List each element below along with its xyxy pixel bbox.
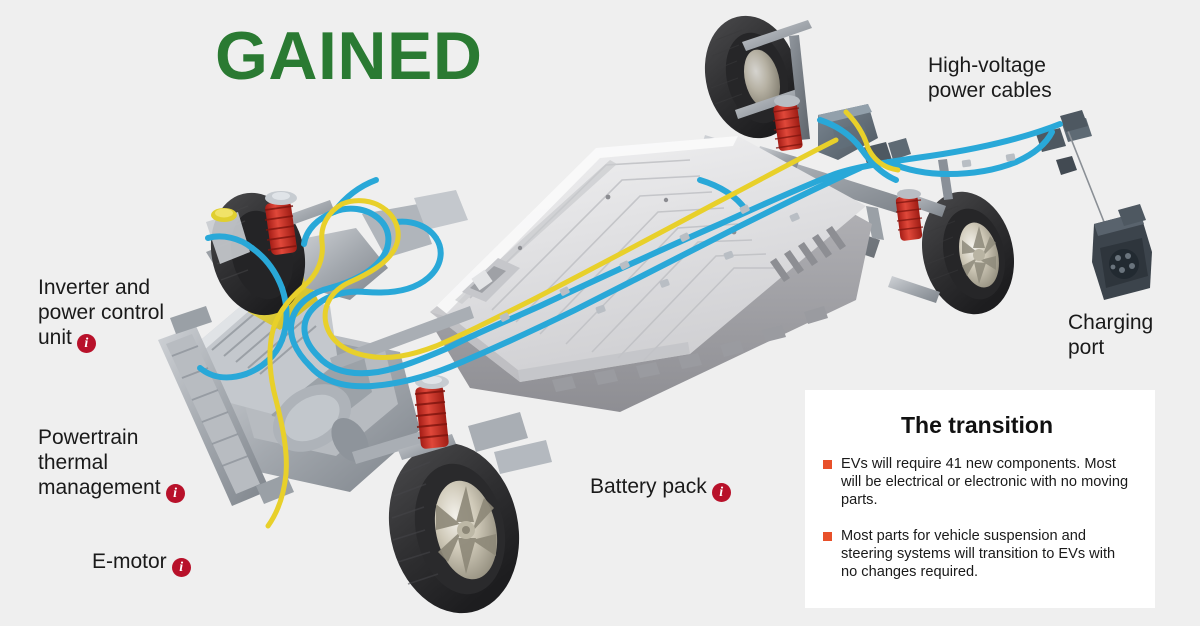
rear-component-housing	[818, 104, 878, 160]
info-icon[interactable]: i	[712, 483, 731, 502]
rear-wheel-right	[910, 182, 1026, 323]
charging-port	[1060, 110, 1152, 300]
rear-subframe	[634, 135, 905, 258]
transition-bullet-text: EVs will require 41 new components. Most…	[841, 455, 1135, 509]
front-suspension-left	[265, 191, 334, 256]
list-item: Most parts for vehicle suspension and st…	[819, 527, 1135, 581]
front-suspension-right	[398, 375, 552, 474]
callout-battery-label: Battery pack	[590, 475, 707, 498]
list-item: EVs will require 41 new components. Most…	[819, 455, 1135, 509]
callout-emotor-label: E-motor	[92, 550, 167, 573]
rear-suspension-left	[735, 20, 812, 170]
high-voltage-power-cables-yellow	[268, 112, 898, 526]
front-wheel-right	[374, 431, 535, 626]
infographic-page: GAINED Inverter and power control uniti …	[0, 0, 1200, 626]
callout-inverter-and-power-control-unit[interactable]: Inverter and power control uniti	[38, 250, 164, 353]
battery-pack	[430, 136, 872, 412]
square-bullet-icon	[823, 532, 832, 541]
rear-electrical-modules	[862, 118, 1092, 175]
inverter-power-control-unit	[196, 288, 338, 414]
callout-inverter-label: Inverter and power control unit	[38, 276, 164, 349]
front-wheel-left	[198, 183, 317, 326]
battery-fasteners	[518, 195, 737, 251]
page-title: GAINED	[215, 22, 482, 90]
transition-bullet-text: Most parts for vehicle suspension and st…	[841, 527, 1135, 581]
cable-clamps	[499, 153, 1016, 322]
callout-charging-port: Charging port	[1068, 285, 1153, 360]
transition-panel: The transition EVs will require 41 new c…	[805, 390, 1155, 608]
callout-high-voltage-power-cables: High-voltage power cables	[928, 28, 1052, 103]
coolant-reservoir	[206, 208, 250, 264]
callout-battery-pack[interactable]: Battery packi	[590, 449, 731, 502]
battery-junction-box	[462, 258, 520, 302]
battery-mount-tabs	[552, 306, 828, 392]
rear-wheel-left	[692, 6, 811, 149]
battery-side-fins	[770, 226, 846, 282]
callout-e-motor[interactable]: E-motori	[92, 524, 191, 577]
front-powertrain-assembly	[196, 190, 474, 492]
info-icon[interactable]: i	[172, 558, 191, 577]
info-icon[interactable]: i	[166, 484, 185, 503]
transition-title: The transition	[819, 412, 1135, 439]
callout-hv-label: High-voltage power cables	[928, 54, 1052, 102]
callout-powertrain-thermal-management[interactable]: Powertrain thermal managementi	[38, 400, 185, 503]
callout-charge-label: Charging port	[1068, 311, 1153, 359]
info-icon[interactable]: i	[77, 334, 96, 353]
front-yellow-motor-wrap	[246, 252, 318, 330]
square-bullet-icon	[823, 460, 832, 469]
e-motor	[260, 370, 376, 469]
callout-thermal-label: Powertrain thermal management	[38, 426, 161, 499]
high-voltage-power-cables-cyan	[200, 120, 1060, 386]
rear-suspension-right	[888, 159, 953, 303]
